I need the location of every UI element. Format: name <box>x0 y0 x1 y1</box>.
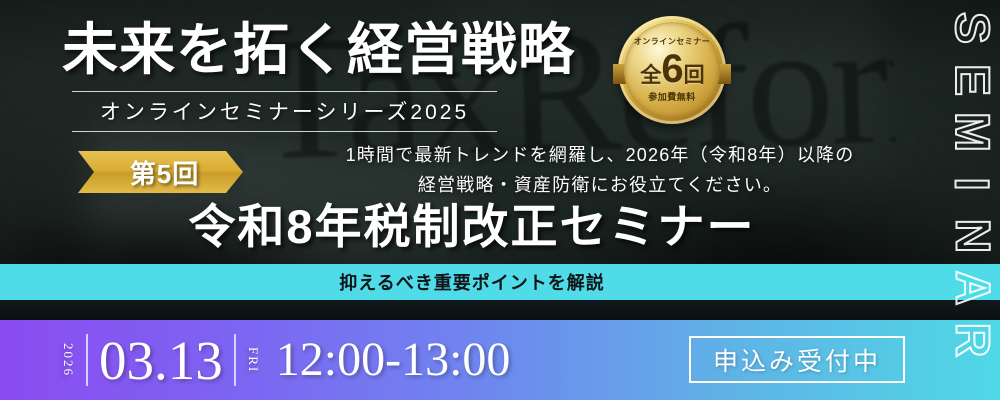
apply-button[interactable]: 申込み受付中 <box>689 336 905 383</box>
apply-button-label: 申込み受付中 <box>713 342 881 378</box>
series-subtitle-label: オンラインセミナーシリーズ2025 <box>72 96 497 126</box>
description-line-2: 経営戦略・資産防衛にお役立てください。 <box>250 170 950 200</box>
schedule-year: 2026 <box>62 343 75 377</box>
badge-count: 全 6 回 <box>634 49 711 89</box>
description-block: 1時間で最新トレンドを網羅し、2026年（令和8年）以降の 経営戦略・資産防衛に… <box>250 140 950 200</box>
description-line-1: 1時間で最新トレンドを網羅し、2026年（令和8年）以降の <box>250 140 950 170</box>
highlight-strip: 抑えるべき重要ポイントを解説 <box>0 264 1000 300</box>
seminar-count-badge: オンラインセミナー 全 6 回 参加費無料 <box>618 16 726 124</box>
page-title: 未来を拓く経営戦略 <box>62 22 575 78</box>
badge-bottom-label: 参加費無料 <box>634 93 711 102</box>
badge-count-number: 6 <box>661 49 682 89</box>
badge-count-suffix: 回 <box>684 65 704 86</box>
badge-count-prefix: 全 <box>640 65 660 86</box>
seminar-banner: TaxReform 未来を拓く経営戦略 オンラインセミナーシリーズ2025 第5… <box>0 0 1000 400</box>
schedule-divider-2 <box>234 334 236 386</box>
schedule-weekday: FRI <box>247 347 260 373</box>
badge-top-label: オンラインセミナー <box>634 38 711 46</box>
badge-content: オンラインセミナー 全 6 回 参加費無料 <box>634 38 711 102</box>
schedule-divider-1 <box>86 334 88 386</box>
schedule-date: 03.13 <box>99 333 223 388</box>
series-subtitle: オンラインセミナーシリーズ2025 <box>72 91 497 132</box>
highlight-strip-label: 抑えるべき重要ポイントを解説 <box>339 269 604 295</box>
divider-band <box>0 300 1000 320</box>
schedule-time: 12:00-13:00 <box>276 336 511 384</box>
episode-ribbon: 第5回 <box>78 151 243 193</box>
schedule-date-group: 2026 03.13 FRI 12:00-13:00 <box>62 333 510 388</box>
seminar-title: 令和8年税制改正セミナー <box>0 203 944 250</box>
episode-ribbon-label: 第5回 <box>122 154 199 191</box>
